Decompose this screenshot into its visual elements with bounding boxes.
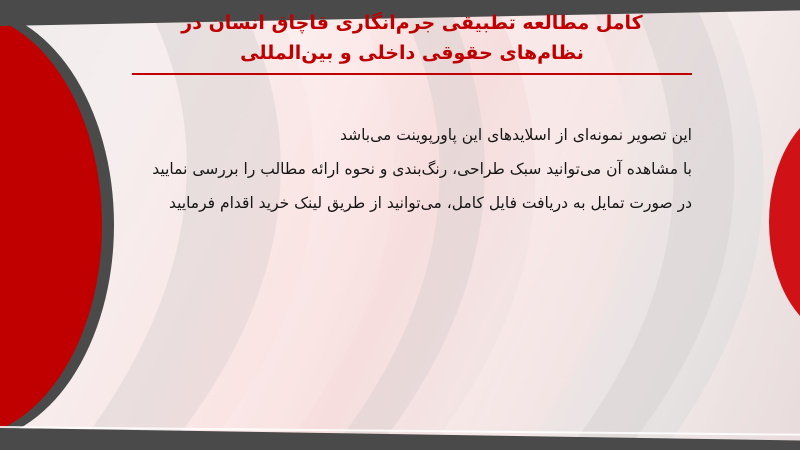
title-line-2: نظام‌های حقوقی داخلی و بین‌المللی: [132, 38, 692, 68]
title-line-1: کامل مطالعه تطبیقی جرم‌انگاری قاچاق انسا…: [132, 8, 692, 38]
body-line-3: در صورت تمایل به دریافت فایل کامل، می‌تو…: [92, 186, 692, 220]
presentation-slide: کامل مطالعه تطبیقی جرم‌انگاری قاچاق انسا…: [0, 0, 800, 450]
slide-body: این تصویر نمونه‌ای از اسلایدهای این پاور…: [92, 118, 692, 220]
body-line-2: با مشاهده آن می‌توانید سبک طراحی، رنگ‌بن…: [92, 152, 692, 186]
slide-title: کامل مطالعه تطبیقی جرم‌انگاری قاچاق انسا…: [132, 8, 692, 75]
title-underline-rule: [132, 73, 692, 75]
body-line-1: این تصویر نمونه‌ای از اسلایدهای این پاور…: [92, 118, 692, 152]
